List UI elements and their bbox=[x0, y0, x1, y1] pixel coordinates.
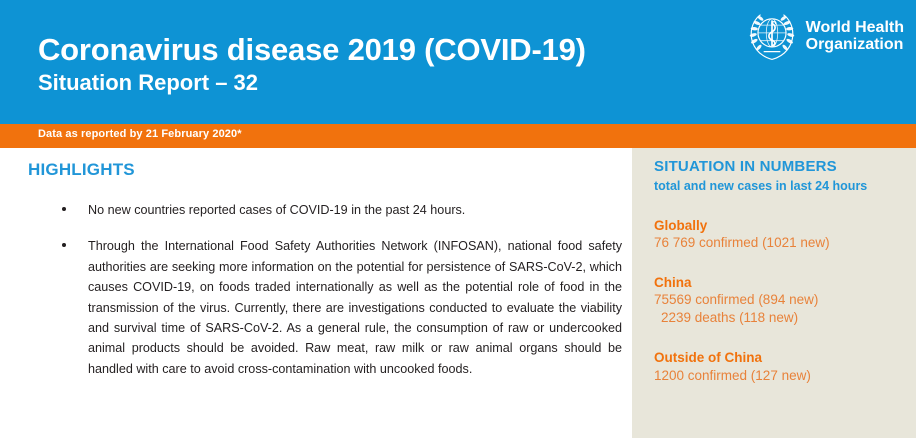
stat-value: 75569 confirmed (894 new) bbox=[654, 291, 904, 309]
bullet-dot-icon bbox=[62, 207, 66, 211]
highlights-heading: HIGHLIGHTS bbox=[28, 160, 135, 180]
stat-block-china: China 75569 confirmed (894 new) 2239 dea… bbox=[654, 274, 904, 327]
stat-label: China bbox=[654, 274, 904, 292]
stat-block-globally: Globally 76 769 confirmed (1021 new) bbox=[654, 217, 904, 252]
page-title: Coronavirus disease 2019 (COVID-19) bbox=[38, 32, 586, 67]
list-item: No new countries reported cases of COVID… bbox=[0, 200, 632, 220]
situation-in-numbers-panel: SITUATION IN NUMBERS total and new cases… bbox=[632, 148, 916, 438]
who-logo: World Health Organization bbox=[746, 10, 904, 62]
situation-report-page: Coronavirus disease 2019 (COVID-19) Situ… bbox=[0, 0, 916, 438]
highlights-bullet-list: No new countries reported cases of COVID… bbox=[0, 200, 632, 395]
list-item: Through the International Food Safety Au… bbox=[0, 236, 632, 379]
main-content: HIGHLIGHTS No new countries reported cas… bbox=[0, 148, 632, 438]
stat-value: 76 769 confirmed (1021 new) bbox=[654, 234, 904, 252]
header-title-group: Coronavirus disease 2019 (COVID-19) Situ… bbox=[38, 32, 586, 97]
page-subtitle: Situation Report – 32 bbox=[38, 70, 586, 96]
stat-label: Outside of China bbox=[654, 349, 904, 367]
list-item-text: No new countries reported cases of COVID… bbox=[88, 203, 465, 217]
stat-value: 2239 deaths (118 new) bbox=[654, 309, 904, 327]
who-emblem-icon bbox=[746, 10, 798, 62]
list-item-text: Through the International Food Safety Au… bbox=[88, 239, 622, 375]
who-wordmark-line1: World Health bbox=[806, 19, 904, 36]
data-as-reported-bar: Data as reported by 21 February 2020* bbox=[0, 124, 916, 148]
stat-label: Globally bbox=[654, 217, 904, 235]
data-as-reported-text: Data as reported by 21 February 2020* bbox=[38, 128, 242, 140]
who-wordmark-line2: Organization bbox=[806, 36, 904, 53]
situation-panel-subtitle: total and new cases in last 24 hours bbox=[654, 179, 886, 195]
page-header: Coronavirus disease 2019 (COVID-19) Situ… bbox=[0, 0, 916, 124]
stat-value: 1200 confirmed (127 new) bbox=[654, 367, 904, 385]
stat-block-outside-of-china: Outside of China 1200 confirmed (127 new… bbox=[654, 349, 904, 384]
situation-panel-title: SITUATION IN NUMBERS bbox=[654, 158, 904, 177]
bullet-dot-icon bbox=[62, 243, 66, 247]
who-wordmark: World Health Organization bbox=[806, 19, 904, 54]
